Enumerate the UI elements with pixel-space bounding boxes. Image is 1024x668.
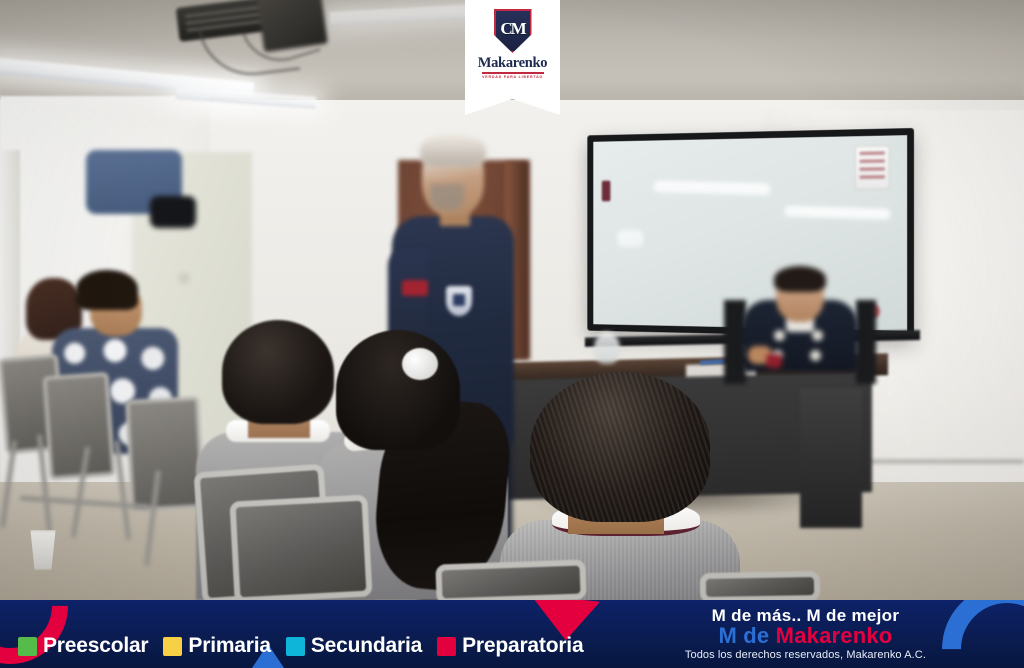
shield-icon: CM	[494, 9, 532, 53]
image-canvas: CM Makarenko VERDAD PARA LIBERTAD Preesc…	[0, 0, 1024, 668]
jacket-button	[810, 350, 821, 361]
hair	[530, 372, 710, 522]
slogan-block: M de más.. M de mejor M de Makarenko Tod…	[685, 607, 926, 662]
level-color-chip	[163, 637, 182, 656]
level-color-chip	[286, 637, 305, 656]
hair	[420, 134, 486, 166]
hair-scrunchie	[402, 348, 438, 380]
wall-poster	[855, 145, 890, 189]
level-item-primaria[interactable]: Primaria	[163, 634, 270, 658]
logo-wordmark: Makarenko	[478, 56, 548, 71]
light-reflection	[784, 206, 891, 220]
monogram-text: CM	[500, 19, 524, 39]
level-color-chip	[18, 637, 37, 656]
level-item-preparatoria[interactable]: Preparatoria	[437, 634, 583, 658]
level-item-secundaria[interactable]: Secundaria	[286, 634, 422, 658]
level-label: Primaria	[188, 634, 270, 658]
jacket-button	[774, 330, 785, 341]
light-reflection	[617, 230, 643, 247]
light-reflection	[654, 181, 771, 196]
hair	[76, 270, 138, 310]
level-label: Secundaria	[311, 634, 422, 658]
desk-leg	[800, 388, 862, 528]
slogan-makarenko: Makarenko	[776, 623, 893, 648]
shoe	[150, 196, 196, 228]
jacket-button	[812, 330, 823, 341]
hair	[774, 266, 826, 292]
level-item-preescolar[interactable]: Preescolar	[18, 634, 148, 658]
folding-chair	[700, 571, 821, 600]
person-seated-at-desk	[742, 268, 858, 372]
makarenko-logo-ribbon: CM Makarenko VERDAD PARA LIBERTAD	[465, 0, 560, 115]
office-chair	[856, 300, 876, 384]
school-crest-patch	[446, 286, 472, 316]
shirt-logo	[402, 280, 428, 296]
slogan-line-1: M de más.. M de mejor	[685, 607, 926, 625]
bottle-on-desk	[594, 332, 620, 364]
logo-underline	[482, 72, 544, 74]
whiteboard-magnet-icon	[602, 181, 611, 202]
slogan-line-2: M de Makarenko	[685, 624, 926, 647]
level-label: Preparatoria	[462, 634, 583, 658]
held-object	[766, 354, 782, 368]
level-color-chip	[437, 637, 456, 656]
slogan-m-de: M de	[718, 623, 775, 648]
copyright-text: Todos los derechos reservados, Makarenko…	[685, 650, 926, 662]
folding-chair	[229, 494, 372, 600]
beard	[430, 184, 464, 210]
folding-chair	[435, 559, 586, 600]
hair	[336, 330, 460, 450]
ceiling-fixture	[256, 0, 328, 52]
bottom-banner: Preescolar Primaria Secundaria Preparato…	[0, 600, 1024, 668]
level-label: Preescolar	[43, 634, 148, 658]
decorative-blue-ring	[915, 600, 1024, 668]
chair-legs	[0, 430, 210, 560]
logo-tagline: VERDAD PARA LIBERTAD	[482, 75, 543, 79]
school-levels-list: Preescolar Primaria Secundaria Preparato…	[18, 634, 583, 658]
